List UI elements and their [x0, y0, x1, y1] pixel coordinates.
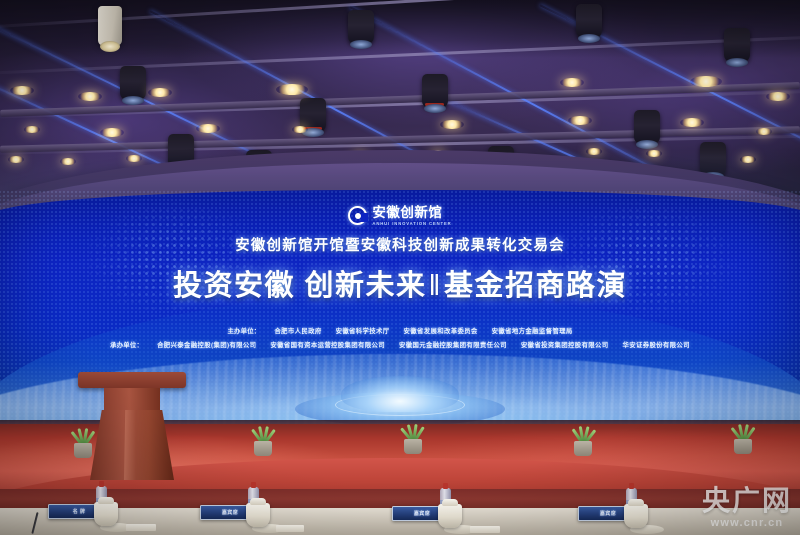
host-organizations-line: 主办单位： 合肥市人民政府 安徽省科学技术厅 安徽省发展和改革委员会 安徽省地方…: [227, 326, 572, 335]
moving-head-light: [120, 66, 146, 100]
organizer-label: 承办单位：: [110, 340, 143, 349]
stage-spotlight: [24, 126, 40, 133]
stage-spotlight: [100, 128, 124, 137]
circle-c-logo-icon: [348, 206, 367, 225]
logo-name-cn: 安徽创新馆: [372, 206, 442, 220]
stage-spotlight: [568, 116, 592, 125]
tea-cup: [94, 502, 118, 526]
tea-cup: [246, 503, 270, 527]
document-paper: [276, 525, 304, 532]
nameplate-text: 嘉宾席: [222, 509, 238, 516]
moving-head-light: [422, 74, 448, 108]
potted-plant: [396, 414, 430, 454]
plant-pot: [404, 439, 422, 454]
nameplate-text: 名 牌: [73, 508, 86, 515]
moving-head-light: [634, 110, 660, 144]
logo-text-block: 安徽创新馆 ANHUI INNOVATION CENTER: [372, 206, 451, 226]
moving-head-light: [348, 10, 374, 44]
ceiling-light-fixture: [98, 6, 122, 46]
ceiling-area: [0, 0, 800, 195]
anhui-innovation-center-logo: 安徽创新馆 ANHUI INNOVATION CENTER: [348, 206, 451, 226]
co-organizer-organizations-line: 承办单位： 合肥兴泰金融控股(集团)有限公司 安徽省国有资本运营控股集团有限公司…: [110, 340, 690, 349]
logo-name-en: ANHUI INNOVATION CENTER: [372, 222, 451, 226]
document-paper: [470, 526, 500, 533]
stage-spotlight: [60, 158, 76, 165]
stage-spotlight: [8, 156, 24, 163]
stage-spotlight: [292, 126, 308, 133]
plant-pot: [734, 439, 752, 454]
potted-plant: [66, 418, 100, 458]
stage-spotlight: [78, 92, 102, 101]
plant-pot: [574, 441, 592, 456]
organizer-item: 安徽省投资集团控股有限公司: [521, 340, 609, 349]
host-item: 安徽省地方金融监督管理局: [492, 326, 573, 335]
organizer-item: 安徽省国有资本运营控股集团有限公司: [270, 340, 385, 349]
nameplate-text: 嘉宾席: [414, 510, 430, 517]
stage-spotlight: [690, 76, 722, 87]
organizer-item: 合肥兴泰金融控股(集团)有限公司: [157, 340, 256, 349]
stage-spotlight: [766, 92, 790, 101]
podium-highlight: [124, 410, 136, 480]
nameplate-text: 嘉宾席: [600, 510, 616, 517]
podium-neck: [104, 388, 160, 410]
potted-plant: [726, 414, 760, 454]
stage-spotlight: [646, 150, 662, 157]
event-main-title: 投资安徽 创新未来‖基金招商路演: [173, 262, 627, 304]
stage-spotlight: [10, 86, 34, 95]
document-paper: [126, 524, 156, 531]
tea-cup: [438, 504, 462, 528]
host-item: 安徽省发展和改革委员会: [404, 326, 478, 335]
plant-pot: [74, 443, 92, 458]
stage-spotlight: [586, 148, 602, 155]
plant-pot: [254, 441, 272, 456]
stage-spotlight: [148, 88, 172, 97]
organizer-block: 主办单位： 合肥市人民政府 安徽省科学技术厅 安徽省发展和改革委员会 安徽省地方…: [110, 326, 690, 349]
podium-top: [78, 372, 186, 388]
tea-cup: [624, 504, 648, 528]
host-label: 主办单位：: [227, 326, 260, 335]
organizer-item: 华安证券股份有限公司: [622, 340, 689, 349]
stage-spotlight: [440, 120, 464, 129]
potted-plant: [246, 416, 280, 456]
moving-head-light: [576, 4, 602, 38]
stage-spotlight: [756, 128, 772, 135]
stage-spotlight: [276, 84, 308, 95]
moving-head-light: [700, 142, 726, 176]
conference-stage-photo: 安徽创新馆 ANHUI INNOVATION CENTER 安徽创新馆开馆暨安徽…: [0, 0, 800, 535]
stage-spotlight: [196, 124, 220, 133]
title-separator: ‖: [427, 270, 444, 302]
title-part-two: 基金招商路演: [444, 270, 627, 302]
title-part-one: 投资安徽 创新未来: [173, 270, 427, 302]
stage-spotlight: [560, 78, 584, 87]
stage-spotlight: [680, 118, 704, 127]
moving-head-light: [724, 28, 750, 62]
potted-plant: [566, 416, 600, 456]
event-subtitle: 安徽创新馆开馆暨安徽科技创新成果转化交易会: [235, 234, 565, 255]
host-item: 合肥市人民政府: [274, 326, 321, 335]
organizer-item: 安徽国元金融控股集团有限责任公司: [399, 340, 507, 349]
stage-spotlight: [126, 155, 142, 162]
stage-spotlight: [740, 156, 756, 163]
host-item: 安徽省科学技术厅: [336, 326, 390, 335]
